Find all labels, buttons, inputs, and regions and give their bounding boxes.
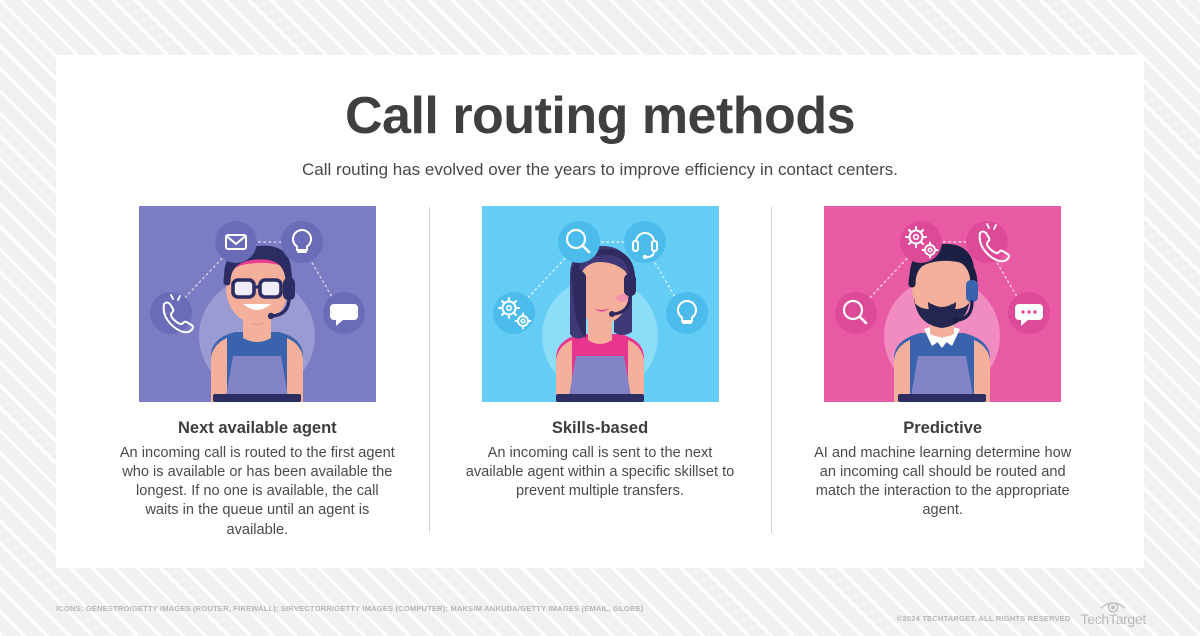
illustration-predictive <box>824 206 1061 402</box>
panel-title-next-available-agent: Next available agent <box>178 402 337 438</box>
panel-next-available-agent: Next available agent An incoming call is… <box>86 206 429 540</box>
illustration-svg-3 <box>824 206 1061 402</box>
techtarget-logo: TechTarget <box>1081 600 1146 626</box>
panels-container: Next available agent An incoming call is… <box>56 206 1144 540</box>
icon-circle-search <box>835 292 877 334</box>
footer-image-credits: ICONS: GENESTRO/GETTY IMAGES (ROUTER, FI… <box>56 604 643 613</box>
icon-circle-lightbulb <box>281 221 323 263</box>
panel-description-next-available-agent: An incoming call is routed to the first … <box>119 438 395 540</box>
panel-title-skills-based: Skills-based <box>552 402 648 438</box>
illustration-svg-1 <box>139 206 376 402</box>
icon-circle-search <box>558 221 600 263</box>
page-title: Call routing methods <box>56 55 1144 144</box>
icon-circle-gears <box>900 221 942 263</box>
techtarget-wordmark: TechTarget <box>1081 612 1146 626</box>
infographic-card: Call routing methods Call routing has ev… <box>56 55 1144 568</box>
illustration-next-available-agent <box>139 206 376 402</box>
panel-description-predictive: AI and machine learning determine how an… <box>805 438 1081 521</box>
illustration-skills-based <box>482 206 719 402</box>
panel-skills-based: Skills-based An incoming call is sent to… <box>429 206 772 540</box>
panel-description-skills-based: An incoming call is sent to the next ava… <box>462 438 738 502</box>
footer-right: ©2024 TECHTARGET. ALL RIGHTS RESERVED Te… <box>897 600 1146 626</box>
icon-circle-chat-bubble <box>323 292 365 334</box>
panel-title-predictive: Predictive <box>903 402 982 438</box>
footer-copyright: ©2024 TECHTARGET. ALL RIGHTS RESERVED <box>897 604 1071 623</box>
panel-predictive: Predictive AI and machine learning deter… <box>771 206 1114 540</box>
footer: ICONS: GENESTRO/GETTY IMAGES (ROUTER, FI… <box>0 596 1200 636</box>
page-subtitle: Call routing has evolved over the years … <box>56 144 1144 180</box>
icon-circle-chat-dots <box>1008 292 1050 334</box>
icon-circle-headset <box>624 221 666 263</box>
icon-circle-envelope <box>215 221 257 263</box>
icon-circle-lightbulb <box>666 292 708 334</box>
illustration-svg-2 <box>482 206 719 402</box>
icon-circle-gears <box>493 292 535 334</box>
